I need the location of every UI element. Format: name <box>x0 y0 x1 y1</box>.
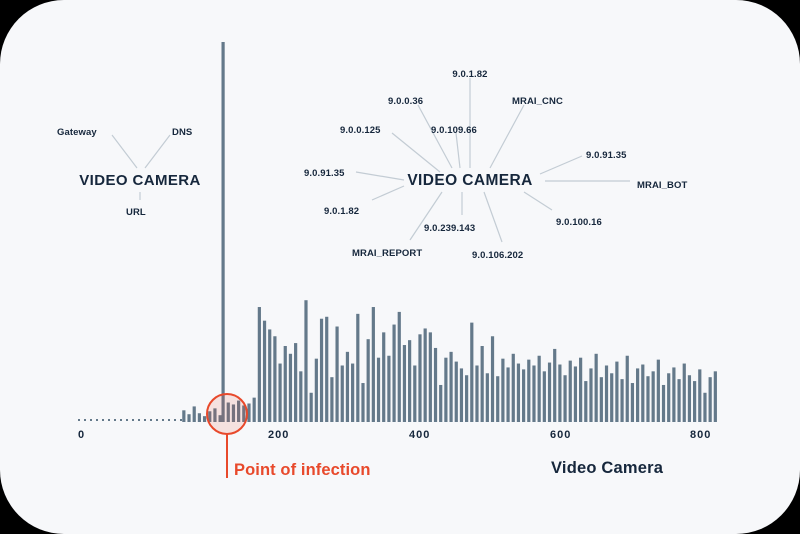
x-axis-tick-label: 200 <box>268 429 289 441</box>
x-axis-title: Video Camera <box>551 459 663 478</box>
point-of-infection-marker <box>206 393 248 435</box>
point-of-infection-leader-line <box>226 434 228 478</box>
x-axis-tick-label: 0 <box>78 429 85 441</box>
x-axis-tick-label: 400 <box>409 429 430 441</box>
point-of-infection-label: Point of infection <box>234 461 371 480</box>
x-axis-tick-label: 600 <box>550 429 571 441</box>
x-axis: 0200400600800Video Camera <box>0 0 800 534</box>
infographic-card: VIDEO CAMERAGatewayDNSURL VIDEO CAMERA9.… <box>0 0 800 534</box>
x-axis-tick-label: 800 <box>690 429 711 441</box>
